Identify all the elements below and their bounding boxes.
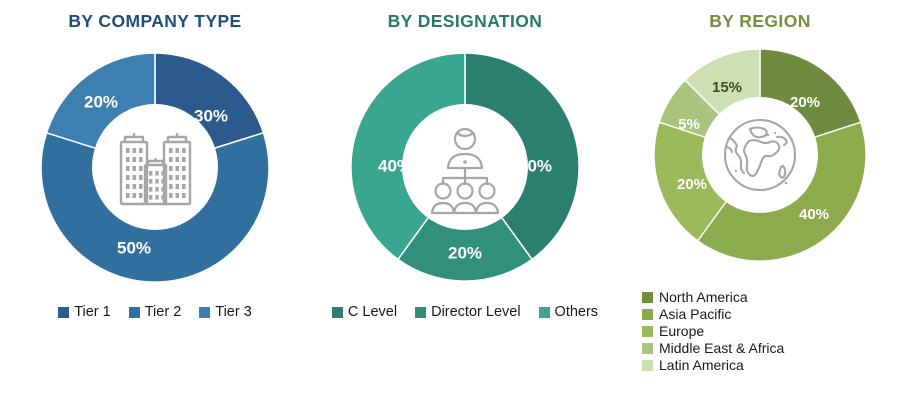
donut-svg-region: 20% 40% 20% 5% 15% [642, 37, 878, 273]
legend-swatch-tier-3 [199, 307, 210, 318]
slice-value-region-latin-america: 15% [712, 79, 742, 96]
legend-label-tier-1: Tier 1 [74, 305, 111, 320]
donut-chart-company-type: 30% 50% 20% [0, 35, 310, 293]
legend-item-tier-1[interactable]: Tier 1 [58, 305, 111, 320]
legend-swatch-tier-1 [58, 307, 69, 318]
legend-item-asia-pacific[interactable]: Asia Pacific [642, 307, 784, 321]
legend-label-latin-america: Latin America [659, 358, 744, 372]
slice-value-region-north-america: 20% [790, 94, 820, 111]
donut-chart-designation: 40% 20% 40% [310, 35, 620, 293]
legend-item-director-level[interactable]: Director Level [415, 305, 520, 320]
slice-value-company-tier-1: 30% [194, 106, 228, 125]
slice-value-region-asia-pacific: 40% [799, 206, 829, 223]
legend-label-asia-pacific: Asia Pacific [659, 307, 731, 321]
slice-value-company-tier-2: 50% [117, 238, 151, 257]
legend-swatch-others [539, 307, 550, 318]
panel-by-company-type: BY COMPANY TYPE 30% 50% 20% [0, 0, 310, 404]
slice-value-designation-director-level: 20% [448, 243, 482, 262]
legend-item-latin-america[interactable]: Latin America [642, 358, 784, 372]
donut-svg-designation: 40% 20% 40% [339, 41, 591, 293]
legend-label-north-america: North America [659, 290, 748, 304]
legend-item-others[interactable]: Others [539, 305, 599, 320]
slice-value-region-middle-east-africa: 5% [678, 116, 700, 133]
legend-swatch-middle-east-africa [642, 343, 653, 354]
legend-item-europe[interactable]: Europe [642, 324, 784, 338]
legend-label-c-level: C Level [348, 305, 397, 320]
legend-item-c-level[interactable]: C Level [332, 305, 397, 320]
donut-hole-region [702, 97, 818, 213]
legend-item-north-america[interactable]: North America [642, 290, 784, 304]
legend-swatch-director-level [415, 307, 426, 318]
panel-title-company-type: BY COMPANY TYPE [0, 0, 310, 35]
legend-item-tier-3[interactable]: Tier 3 [199, 305, 252, 320]
panel-by-region: BY REGION 20% 40% 20% 5% 15% [620, 0, 900, 404]
legend-label-europe: Europe [659, 324, 704, 338]
legend-company-type: Tier 1 Tier 2 Tier 3 [0, 305, 310, 320]
legend-swatch-tier-2 [129, 307, 140, 318]
slice-value-designation-c-level: 40% [518, 156, 552, 175]
legend-swatch-c-level [332, 307, 343, 318]
donut-svg-company-type: 30% 50% 20% [29, 41, 281, 293]
panel-title-region: BY REGION [620, 0, 900, 35]
legend-swatch-north-america [642, 292, 653, 303]
legend-region: North America Asia Pacific Europe Middle… [642, 290, 784, 372]
legend-designation: C Level Director Level Others [310, 305, 620, 320]
slice-value-company-tier-3: 20% [84, 92, 118, 111]
org-hierarchy-button [463, 160, 467, 164]
legend-label-middle-east-africa: Middle East & Africa [659, 341, 784, 355]
slice-value-designation-others: 40% [378, 156, 412, 175]
legend-label-director-level: Director Level [431, 305, 520, 320]
legend-item-tier-2[interactable]: Tier 2 [129, 305, 182, 320]
legend-swatch-asia-pacific [642, 309, 653, 320]
breakdown-of-primaries-infographic: BY COMPANY TYPE 30% 50% 20% [0, 0, 900, 404]
slice-value-region-europe: 20% [677, 176, 707, 193]
legend-swatch-latin-america [642, 360, 653, 371]
legend-item-middle-east-africa[interactable]: Middle East & Africa [642, 341, 784, 355]
donut-chart-region: 20% 40% 20% 5% 15% [620, 35, 900, 273]
legend-label-tier-2: Tier 2 [145, 305, 182, 320]
legend-label-others: Others [555, 305, 599, 320]
panel-title-designation: BY DESIGNATION [310, 0, 620, 35]
legend-label-tier-3: Tier 3 [215, 305, 252, 320]
panel-by-designation: BY DESIGNATION 40% 20% 40% [310, 0, 620, 404]
donut-hole-designation [402, 104, 528, 230]
legend-swatch-europe [642, 326, 653, 337]
